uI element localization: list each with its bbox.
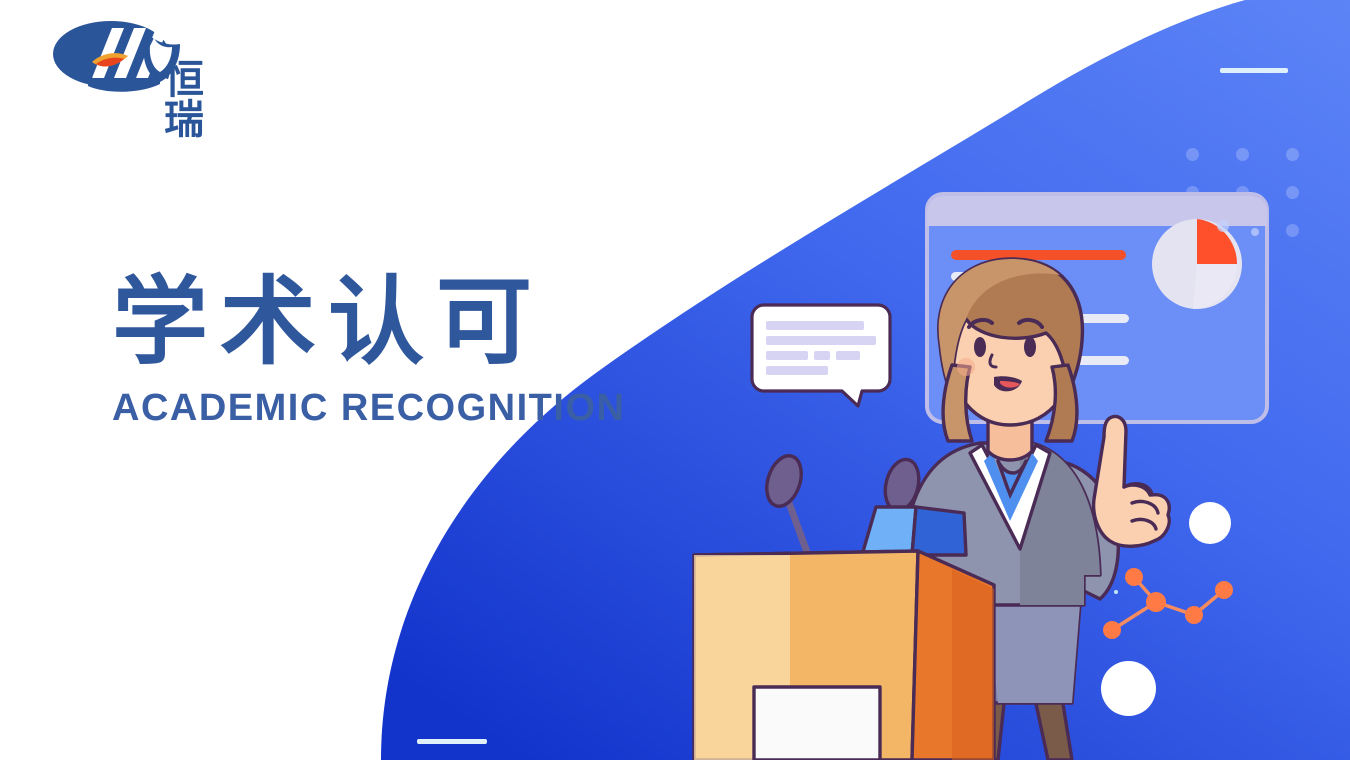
page-subtitle-en: ACADEMIC RECOGNITION [112,387,625,430]
microphone [761,451,808,555]
podium-paper [754,687,880,760]
raised-hand [1094,417,1170,547]
grid-dot [1286,186,1299,199]
page-title-cn: 学术认可 [112,272,625,373]
slide-root: 恒瑞 学术认可 ACADEMIC RECOGNITION [0,0,1350,760]
decor-dash-top-right [1220,68,1288,73]
logo-wordmark: 恒瑞 [164,60,208,140]
decor-dash-bottom-left [417,739,487,744]
molecule-node [1215,581,1233,599]
female-speaker-illustration [680,255,1190,760]
brand-logo[interactable]: 恒瑞 [48,16,208,96]
grid-dot [1286,224,1299,237]
grid-dot [1286,148,1299,161]
decor-circle-small [1189,502,1231,544]
headline-block: 学术认可 ACADEMIC RECOGNITION [112,272,625,430]
grid-dot [1236,148,1249,161]
grid-dot [1186,148,1199,161]
